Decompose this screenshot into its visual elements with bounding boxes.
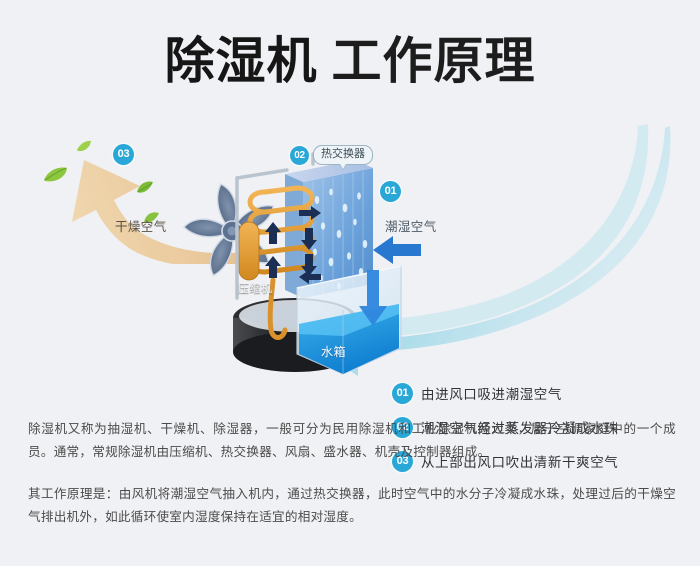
badge-03-dry-air: 03 bbox=[113, 144, 134, 165]
paragraph-definition: 除湿机又称为抽湿机、干燥机、除湿器，一般可分为民用除湿机和工业除湿机两大类，属于… bbox=[28, 418, 676, 464]
page-title: 除湿机工作原理 bbox=[0, 30, 700, 92]
title-part-two: 工作原理 bbox=[332, 33, 536, 89]
heat-exchanger-label: 热交换器 bbox=[313, 145, 373, 165]
leaf-icon bbox=[42, 166, 68, 184]
paragraph-principle: 其工作原理是：由风机将潮湿空气抽入机内，通过热交换器，此时空气中的水分子冷凝成水… bbox=[28, 483, 676, 529]
badge-02-heat-exchanger: 02 bbox=[290, 146, 309, 165]
diagram-stage: 02 热交换器 03 干燥空气 01 潮湿空气 压缩机 水箱 01 由进风口吸进… bbox=[0, 118, 700, 398]
leaf-icon bbox=[136, 180, 154, 194]
leaf-icon bbox=[76, 140, 92, 153]
dry-air-label: 干燥空气 bbox=[115, 216, 167, 235]
compressor-label: 压缩机 bbox=[238, 280, 273, 296]
water-tank-label: 水箱 bbox=[321, 343, 346, 360]
dehumidifier-infographic: 除湿机工作原理 bbox=[0, 0, 700, 566]
body-copy: 除湿机又称为抽湿机、干燥机、除湿器，一般可分为民用除湿机和工业除湿机两大类，属于… bbox=[28, 418, 676, 529]
title-part-one: 除湿机 bbox=[165, 33, 318, 89]
legend-badge-01: 01 bbox=[392, 383, 413, 404]
callout-heat-exchanger: 02 热交换器 bbox=[290, 145, 373, 165]
humid-air-label: 潮湿空气 bbox=[385, 216, 437, 235]
legend-text-01: 由进风口吸进潮湿空气 bbox=[421, 383, 562, 403]
legend-item-01: 01 由进风口吸进潮湿空气 bbox=[392, 376, 692, 410]
intake-arrow-icon bbox=[373, 236, 421, 264]
badge-01-humid-air: 01 bbox=[380, 181, 401, 202]
